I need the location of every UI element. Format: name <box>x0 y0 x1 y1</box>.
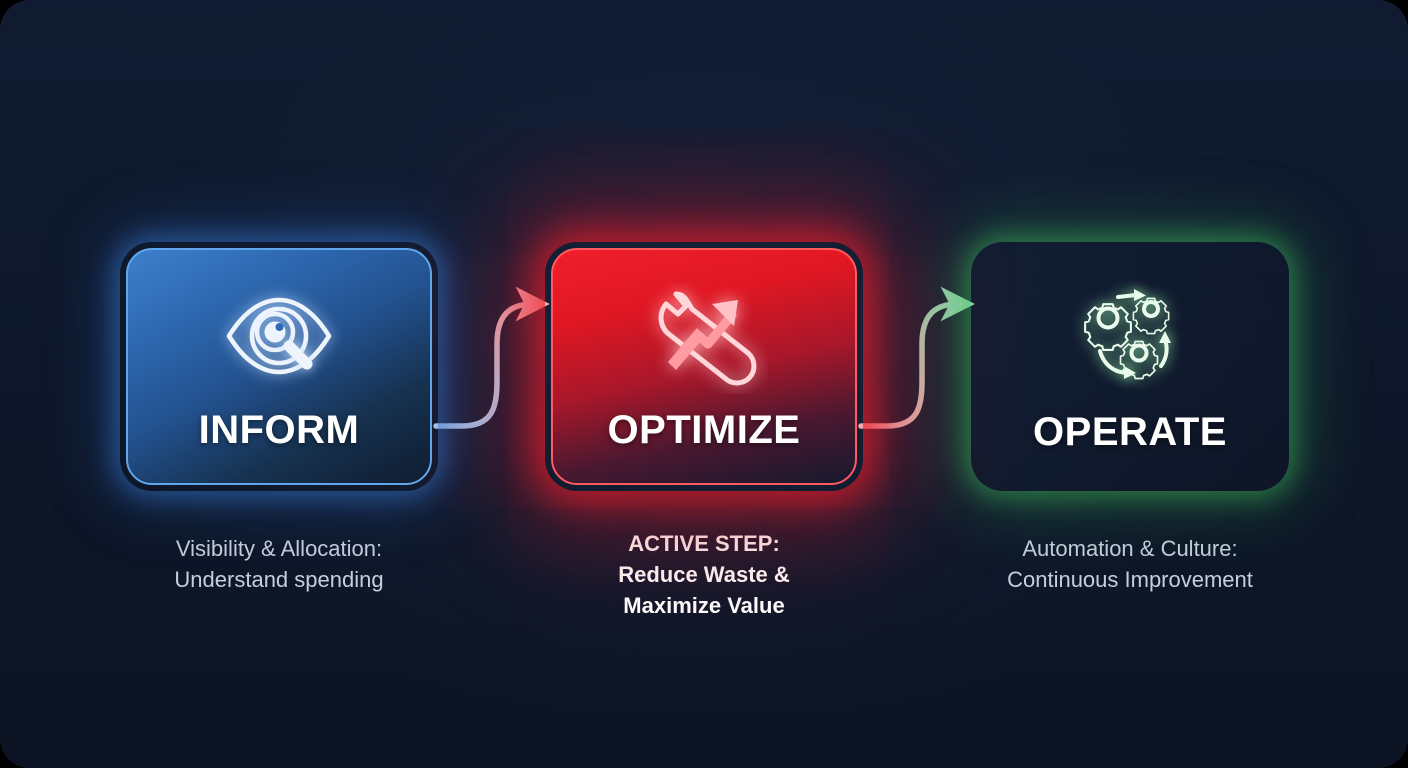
card-inform[interactable]: INFORM <box>126 248 432 485</box>
caption-optimize: ACTIVE STEP: Reduce Waste & Maximize Val… <box>551 528 857 621</box>
caption-inform: Visibility & Allocation: Understand spen… <box>126 533 432 595</box>
card-title-optimize: OPTIMIZE <box>608 410 801 450</box>
wrench-trend-arrow-icon <box>640 282 768 394</box>
card-title-operate: OPERATE <box>977 412 1283 452</box>
card-optimize[interactable]: OPTIMIZE <box>551 248 857 485</box>
caption-operate: Automation & Culture: Continuous Improve… <box>977 533 1283 595</box>
eye-magnifier-icon <box>215 282 343 394</box>
step-operate[interactable]: OPERATE Automation & Culture: Continuous… <box>977 248 1283 595</box>
flow-steps: INFORM Visibility & Allocation: Understa… <box>0 0 1408 768</box>
diagram-canvas: INFORM Visibility & Allocation: Understa… <box>0 0 1408 768</box>
card-title-inform: INFORM <box>199 410 360 450</box>
step-optimize[interactable]: OPTIMIZE ACTIVE STEP: Reduce Waste & Max… <box>551 248 857 621</box>
card-operate[interactable]: OPERATE <box>977 248 1283 485</box>
step-inform[interactable]: INFORM Visibility & Allocation: Understa… <box>126 248 432 595</box>
